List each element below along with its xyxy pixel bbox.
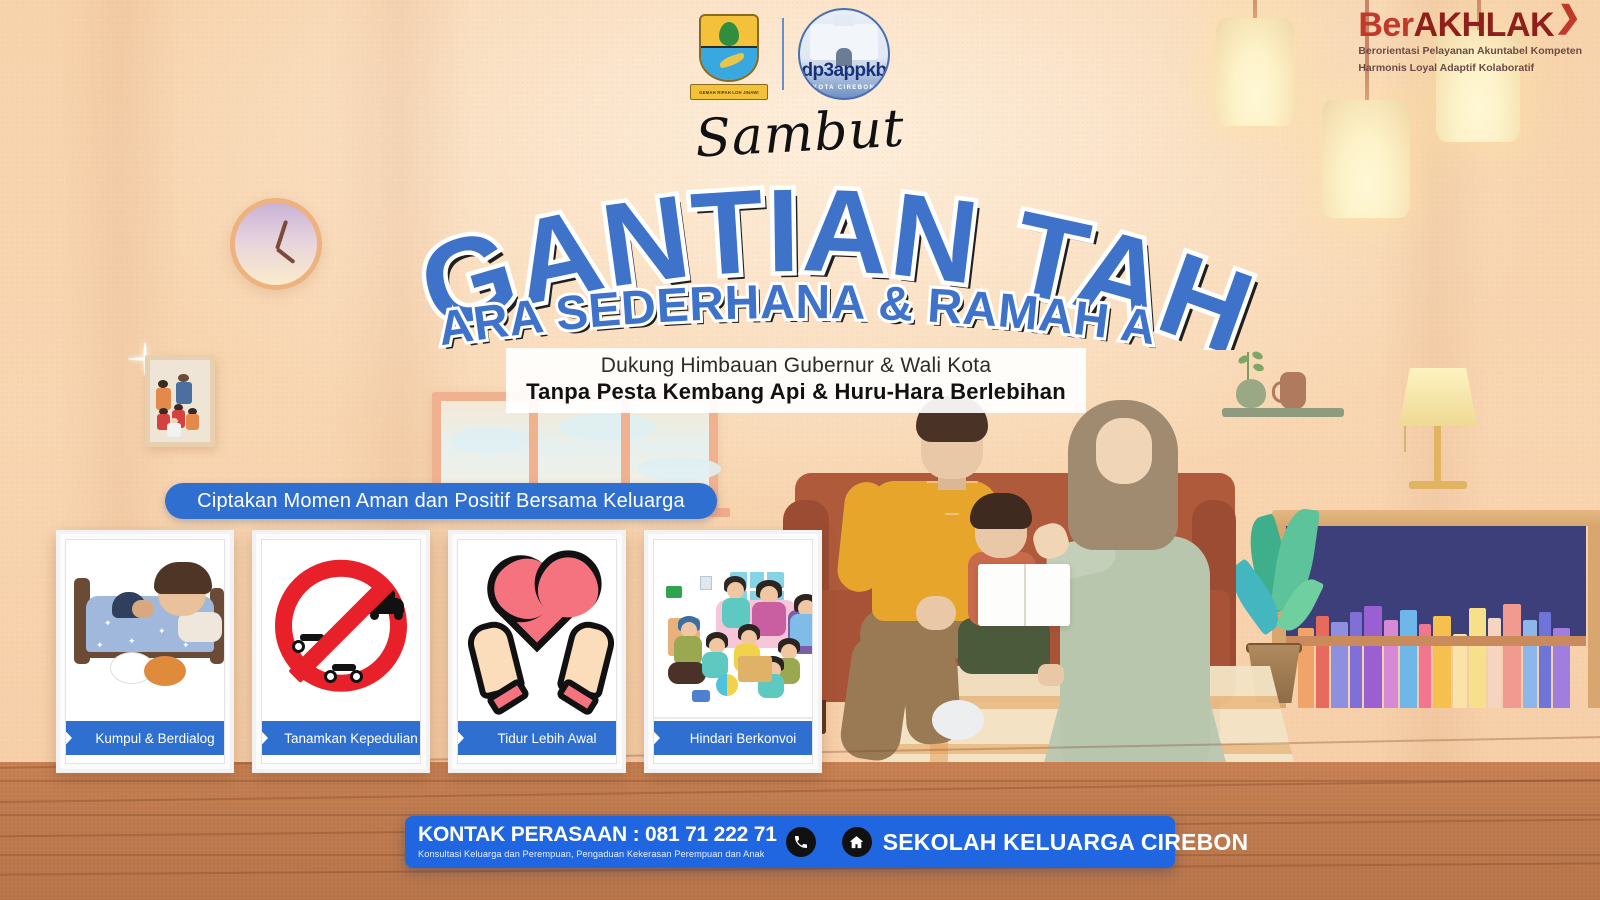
card-label: Kumpul & Berdialog bbox=[95, 731, 214, 746]
card-ribbon: Tidur Lebih Awal bbox=[457, 721, 617, 755]
tip-card-tidur-lebih-awal[interactable]: Tidur Lebih Awal bbox=[448, 530, 626, 773]
contact-subtitle: Konsultasi Keluarga dan Perempuan, Penga… bbox=[418, 849, 777, 860]
announcement-banner: Dukung Himbauan Gubernur & Wali Kota Tan… bbox=[506, 348, 1086, 413]
header-logos: GEMAH RIPAH LOH JINAWI dp3appkb KOTA CIR… bbox=[690, 6, 910, 102]
berakhlak-word-akhlak: AKHLAK bbox=[1414, 8, 1555, 42]
logo-divider bbox=[782, 18, 784, 90]
home-icon[interactable] bbox=[842, 827, 872, 857]
highlight-pill: Ciptakan Momen Aman dan Positif Bersama … bbox=[165, 483, 717, 519]
footer-contact-group: KONTAK PERASAAN : 081 71 222 71 Konsulta… bbox=[405, 816, 816, 868]
card-label: Hindari Berkonvoi bbox=[690, 731, 797, 746]
contact-title: KONTAK PERASAAN : 081 71 222 71 bbox=[418, 824, 777, 846]
tip-card-hindari-berkonvoi[interactable]: Hindari Berkonvoi bbox=[644, 530, 822, 773]
pendant-cord bbox=[1253, 0, 1257, 18]
tip-card-tanamkan-kepedulian[interactable]: Tanamkan Kepedulian bbox=[252, 530, 430, 773]
chevron-right-icon: ❯ bbox=[1554, 0, 1583, 35]
card-ribbon: Kumpul & Berdialog bbox=[65, 721, 225, 755]
card-art-kids-playing bbox=[654, 540, 812, 721]
berakhlak-tagline-line1: Berorientasi Pelayanan Akuntabel Kompete… bbox=[1358, 44, 1582, 59]
footer-brand: SEKOLAH KELUARGA CIREBON bbox=[883, 829, 1249, 856]
card-art-no-vehicles-sign bbox=[262, 540, 420, 721]
dp3appkb-sublabel: KOTA CIREBON bbox=[800, 85, 888, 91]
bookshelf-console bbox=[1272, 510, 1600, 708]
tips-card-row: ✦ ✦ ✦ ✦ ✦ Kumpul & Berdialog bbox=[56, 530, 836, 780]
phone-icon[interactable] bbox=[786, 827, 816, 857]
cirebon-city-crest-icon: GEMAH RIPAH LOH JINAWI bbox=[690, 8, 768, 100]
card-label: Tidur Lebih Awal bbox=[497, 731, 596, 746]
banner-line-1: Dukung Himbauan Gubernur & Wali Kota bbox=[520, 354, 1072, 378]
banner-line-2: Tanpa Pesta Kembang Api & Huru-Hara Berl… bbox=[520, 379, 1072, 405]
dp3appkb-label: dp3appkb bbox=[802, 60, 887, 82]
highlight-pill-text: Ciptakan Momen Aman dan Positif Bersama … bbox=[197, 490, 685, 513]
crest-motto: GEMAH RIPAH LOH JINAWI bbox=[699, 90, 758, 95]
berakhlak-word-ber: Ber bbox=[1358, 8, 1413, 42]
card-ribbon: Tanamkan Kepedulian bbox=[261, 721, 421, 755]
footer-contact-bar: KONTAK PERASAAN : 081 71 222 71 Konsulta… bbox=[405, 816, 1175, 868]
poster-root: GEMAH RIPAH LOH JINAWI dp3appkb KOTA CIR… bbox=[0, 0, 1600, 900]
table-lamp-base bbox=[1409, 481, 1467, 489]
card-label: Tanamkan Kepedulian bbox=[284, 731, 418, 746]
card-art-sleeping-family: ✦ ✦ ✦ ✦ ✦ bbox=[66, 540, 224, 721]
svg-text:SECARA SEDERHANA & RAMAH ANAK: SECARA SEDERHANA & RAMAH ANAK bbox=[0, 280, 1160, 356]
card-ribbon: Hindari Berkonvoi bbox=[653, 721, 813, 755]
tip-card-kumpul-berdialog[interactable]: ✦ ✦ ✦ ✦ ✦ Kumpul & Berdialog bbox=[56, 530, 234, 773]
open-book bbox=[978, 564, 1070, 626]
card-art-heart-in-hands bbox=[458, 540, 616, 721]
dp3appkb-logo-icon: dp3appkb KOTA CIREBON bbox=[798, 8, 890, 100]
